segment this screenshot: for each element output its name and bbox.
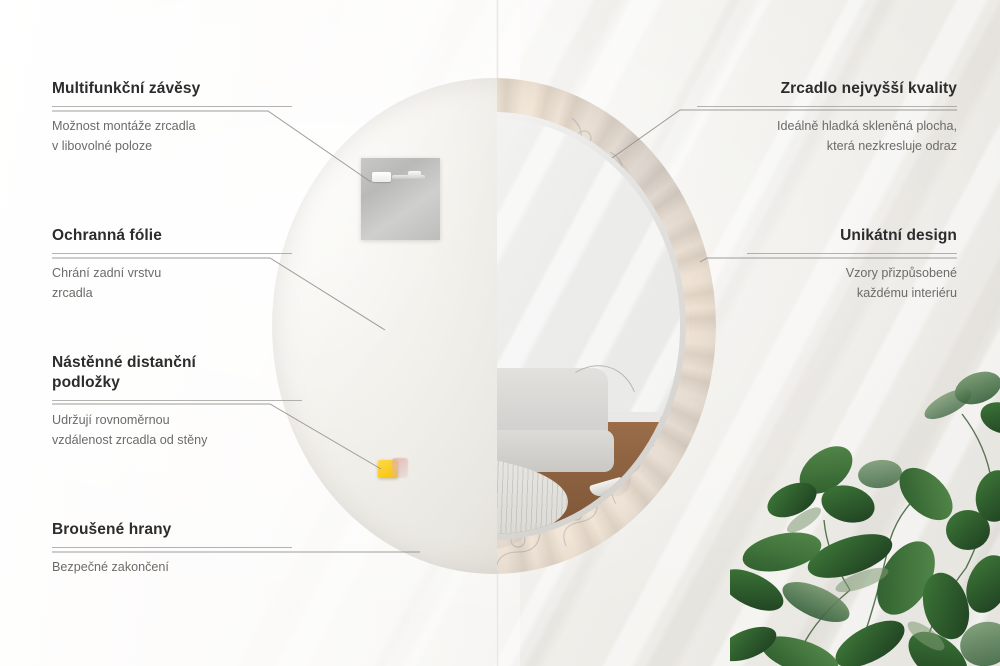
callout-description: Udržují rovnoměrnou vzdálenost zrcadla o…	[52, 411, 302, 450]
callout-description: Bezpečné zakončení	[52, 558, 292, 578]
callout-description: Ideálně hladká skleněná plocha, která ne…	[697, 117, 957, 156]
callout-unikatni-design: Unikátní design Vzory přizpůsobené každé…	[747, 226, 957, 303]
mirror-product	[272, 78, 720, 578]
callout-rule	[747, 253, 957, 254]
callout-description: Vzory přizpůsobené každému interiéru	[747, 264, 957, 303]
callout-title: Nástěnné distanční podložky	[52, 353, 302, 393]
callout-brousene-hrany: Broušené hrany Bezpečné zakončení	[52, 520, 292, 578]
callout-multifunkcni-zavesy: Multifunkční závěsy Možnost montáže zrca…	[52, 79, 292, 156]
callout-title: Unikátní design	[747, 226, 957, 246]
callout-title: Broušené hrany	[52, 520, 292, 540]
infographic-canvas: Multifunkční závěsy Možnost montáže zrca…	[0, 0, 1000, 666]
callout-title: Ochranná fólie	[52, 226, 292, 246]
callout-rule	[52, 106, 292, 107]
callout-rule	[52, 547, 292, 548]
callout-nastenne-distancni-podlozky: Nástěnné distanční podložky Udržují rovn…	[52, 353, 302, 450]
callout-title: Zrcadlo nejvyšší kvality	[697, 79, 957, 99]
callout-zrcadlo-nejvyssi-kvality: Zrcadlo nejvyšší kvality Ideálně hladká …	[697, 79, 957, 156]
foliage-decoration	[730, 344, 1000, 666]
callout-rule	[52, 253, 292, 254]
callout-rule	[52, 400, 302, 401]
callout-rule	[697, 106, 957, 107]
mirror-disc	[272, 78, 716, 574]
spacer-pad-highlight	[392, 458, 408, 478]
callout-title: Multifunkční závěsy	[52, 79, 292, 99]
mirror-edge-shading	[272, 78, 716, 574]
callout-ochranna-folie: Ochranná fólie Chrání zadní vrstvu zrcad…	[52, 226, 292, 303]
hanger-plate	[361, 158, 440, 240]
hanger-screw-head	[408, 171, 421, 178]
callout-description: Možnost montáže zrcadla v libovolné polo…	[52, 117, 292, 156]
callout-description: Chrání zadní vrstvu zrcadla	[52, 264, 292, 303]
hanger-keyhole-icon	[372, 172, 391, 182]
